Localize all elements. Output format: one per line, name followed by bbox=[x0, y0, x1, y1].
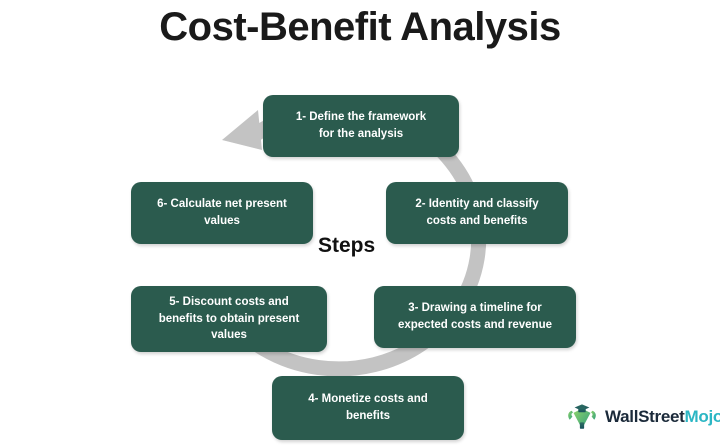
cycle-center-label: Steps bbox=[318, 234, 375, 258]
diagram-canvas: Cost-Benefit Analysis Steps 1- Define th… bbox=[0, 0, 720, 448]
step-2-line-2: costs and benefits bbox=[415, 213, 538, 230]
step-6-line-2: values bbox=[157, 213, 287, 230]
brand-logo[interactable]: WallStreetMojo bbox=[565, 399, 720, 433]
step-4-line-1: 4- Monetize costs and bbox=[308, 391, 428, 408]
step-1-line-1: 1- Define the framework bbox=[296, 109, 426, 126]
step-5-line-1: 5- Discount costs and bbox=[159, 294, 300, 311]
step-6-line-1: 6- Calculate net present bbox=[157, 196, 287, 213]
step-4-line-2: benefits bbox=[308, 408, 428, 425]
step-box-2[interactable]: 2- Identity and classify costs and benef… bbox=[386, 182, 568, 244]
step-1-line-2: for the analysis bbox=[296, 126, 426, 143]
graduation-cap-bull-icon bbox=[565, 399, 599, 433]
step-5-line-3: values bbox=[159, 327, 300, 344]
step-2-line-1: 2- Identity and classify bbox=[415, 196, 538, 213]
brand-logo-text: WallStreetMojo bbox=[605, 408, 720, 425]
step-box-5[interactable]: 5- Discount costs and benefits to obtain… bbox=[131, 286, 327, 352]
step-box-6[interactable]: 6- Calculate net present values bbox=[131, 182, 313, 244]
step-box-3[interactable]: 3- Drawing a timeline for expected costs… bbox=[374, 286, 576, 348]
step-box-1[interactable]: 1- Define the framework for the analysis bbox=[263, 95, 459, 157]
brand-name-primary: WallStreet bbox=[605, 407, 685, 426]
step-5-line-2: benefits to obtain present bbox=[159, 311, 300, 328]
brand-name-accent: Mojo bbox=[685, 407, 720, 426]
step-box-4[interactable]: 4- Monetize costs and benefits bbox=[272, 376, 464, 440]
step-3-line-2: expected costs and revenue bbox=[398, 317, 552, 334]
step-3-line-1: 3- Drawing a timeline for bbox=[398, 300, 552, 317]
